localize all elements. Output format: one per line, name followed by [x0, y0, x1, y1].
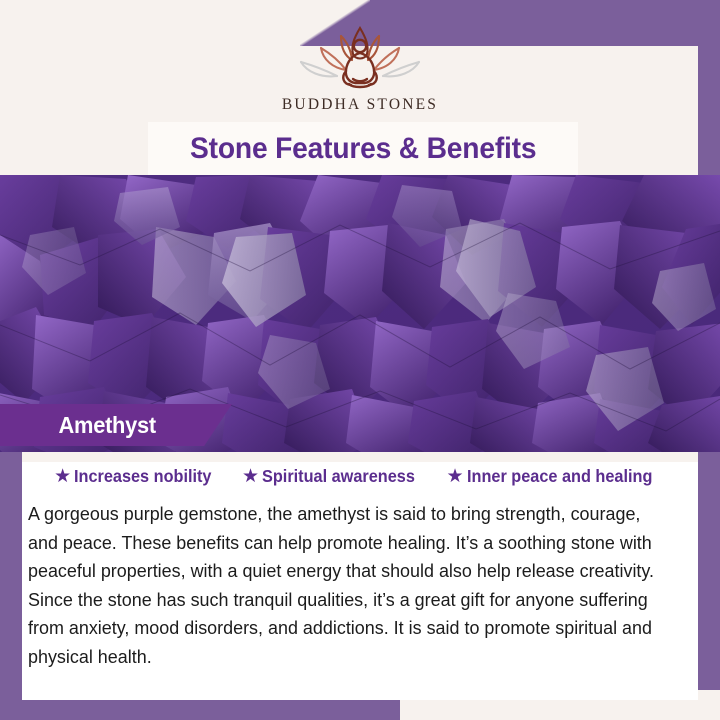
title-band: Stone Features & Benefits — [148, 122, 578, 175]
page-title: Stone Features & Benefits — [190, 132, 536, 166]
star-icon: ★ — [54, 467, 71, 486]
benefit-label: Spiritual awareness — [262, 466, 415, 487]
stone-name: Amethyst — [59, 412, 156, 439]
star-icon: ★ — [242, 467, 259, 486]
benefit-label: Increases nobility — [74, 466, 211, 487]
benefit-item: ★ Increases nobility — [54, 466, 222, 487]
benefit-label: Inner peace and healing — [467, 466, 652, 487]
brand-logo: BUDDHA STONES — [0, 22, 720, 122]
brand-name: BUDDHA STONES — [282, 96, 438, 114]
benefit-item: ★ Inner peace and healing — [446, 466, 665, 487]
stone-info-card: BUDDHA STONES Stone Features & Benefits — [0, 0, 720, 720]
lotus-meditation-icon — [285, 22, 435, 94]
benefit-item: ★ Spiritual awareness — [242, 466, 426, 487]
description-text: A gorgeous purple gemstone, the amethyst… — [28, 500, 673, 671]
frame-left-lower-band — [0, 440, 22, 720]
benefits-row: ★ Increases nobility ★ Spiritual awarene… — [22, 466, 698, 487]
stone-name-bar: Amethyst — [0, 404, 232, 446]
content-top-strip — [22, 452, 698, 462]
frame-right-lower-band — [698, 440, 720, 690]
star-icon: ★ — [446, 467, 463, 486]
